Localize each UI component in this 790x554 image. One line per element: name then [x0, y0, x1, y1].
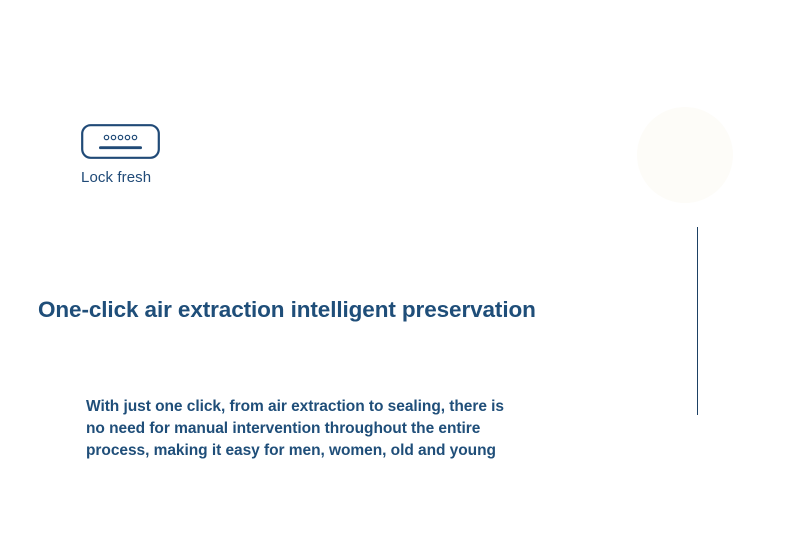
- page-title: One-click air extraction intelligent pre…: [38, 296, 536, 323]
- vacuum-seal-bar-icon: [81, 124, 160, 159]
- body-copy: With just one click, from air extraction…: [86, 396, 686, 462]
- promo-banner: Lock fresh One-click air extraction inte…: [0, 0, 790, 554]
- feature-badge-caption: Lock fresh: [81, 170, 281, 187]
- feature-badge: Lock fresh: [81, 124, 281, 187]
- body-copy-line: no need for manual intervention througho…: [86, 418, 686, 440]
- vertical-divider: [697, 227, 698, 415]
- body-copy-line: process, making it easy for men, women, …: [86, 440, 686, 462]
- body-copy-line: With just one click, from air extraction…: [86, 396, 686, 418]
- decorative-circle: [637, 107, 733, 203]
